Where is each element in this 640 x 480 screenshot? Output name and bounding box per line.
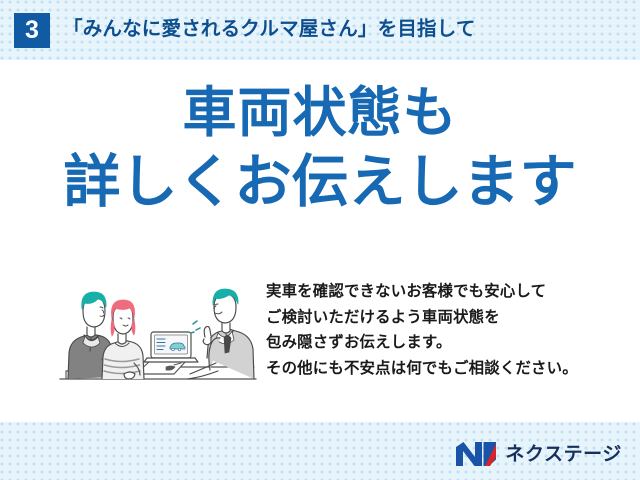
body-copy-line-1: 実車を確認できないお客様でも安心して xyxy=(266,279,578,305)
nextage-n-logo-icon xyxy=(455,441,497,467)
body-copy-line-2: ご検討いただけるよう車両状態を xyxy=(266,305,578,331)
step-number-badge: 3 xyxy=(14,13,50,48)
lower-section: 実車を確認できないお客様でも安心して ご検討いただけるよう車両状態を 包み隠さず… xyxy=(0,275,640,415)
consultation-illustration xyxy=(58,275,258,400)
header-title: 「みんなに愛されるクルマ屋さん」を目指して xyxy=(63,20,476,40)
brand-logo: ネクステージ xyxy=(455,440,622,468)
brand-logo-text: ネクステージ xyxy=(505,445,622,464)
headline-line-1: 車両状態も xyxy=(0,86,640,140)
body-copy-line-4: その他にも不安点は何でもご相談ください。 xyxy=(266,356,578,382)
body-copy-line-3: 包み隠さずお伝えします。 xyxy=(266,330,578,356)
headline: 車両状態も 詳しくお伝えします xyxy=(0,86,640,211)
main-content: 車両状態も 詳しくお伝えします xyxy=(0,60,640,422)
body-copy: 実車を確認できないお客様でも安心して ご検討いただけるよう車両状態を 包み隠さず… xyxy=(266,279,578,381)
promo-banner: 3 「みんなに愛されるクルマ屋さん」を目指して 車両状態も 詳しくお伝えします xyxy=(0,0,640,480)
header: 3 「みんなに愛されるクルマ屋さん」を目指して xyxy=(0,0,640,60)
headline-line-2: 詳しくお伝えします xyxy=(0,154,640,211)
